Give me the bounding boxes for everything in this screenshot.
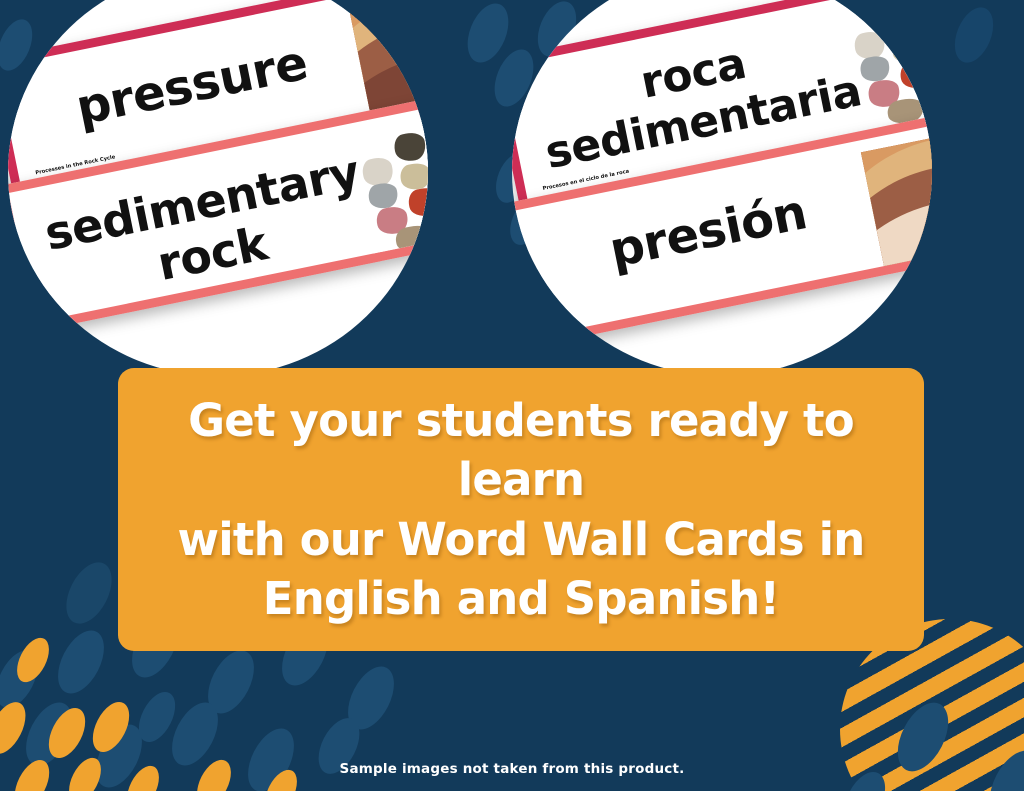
decor-ellipse-blue bbox=[460, 0, 517, 68]
decor-ellipse-orange bbox=[85, 696, 136, 758]
decor-ellipse-blue bbox=[49, 623, 114, 701]
callout-text: Get your students ready to learn with ou… bbox=[118, 391, 924, 629]
decor-ellipse-blue bbox=[57, 555, 121, 631]
decor-ellipse-blue bbox=[87, 717, 152, 791]
callout-line-2: with our Word Wall Cards in bbox=[148, 510, 894, 569]
decor-ellipse-orange bbox=[41, 702, 92, 764]
english-cards-circle: pressure Processes in the Rock Cycle bbox=[8, 0, 428, 376]
sedimentary-strata-photo bbox=[861, 125, 932, 266]
card-word-label: presión bbox=[546, 176, 871, 287]
promo-graphic: pressure Processes in the Rock Cycle bbox=[0, 0, 1024, 791]
decor-ellipse-blue bbox=[339, 659, 404, 737]
decor-ellipse-blue bbox=[131, 686, 182, 748]
decor-ellipse-orange bbox=[0, 696, 33, 760]
callout-line-3: English and Spanish! bbox=[148, 569, 894, 628]
callout-box: Get your students ready to learn with ou… bbox=[118, 368, 924, 651]
spanish-cards-circle: roca sedimentaria Procesos en el ciclo d… bbox=[512, 0, 932, 376]
disclaimer-caption: Sample images not taken from this produc… bbox=[0, 761, 1024, 777]
decor-ellipse-blue bbox=[239, 721, 304, 791]
callout-line-1: Get your students ready to learn bbox=[148, 391, 894, 510]
decor-ellipse-orange bbox=[11, 633, 56, 688]
decor-ellipse-blue bbox=[0, 644, 46, 715]
decor-ellipse-blue bbox=[199, 643, 264, 721]
decor-ellipse-blue bbox=[947, 2, 1000, 69]
